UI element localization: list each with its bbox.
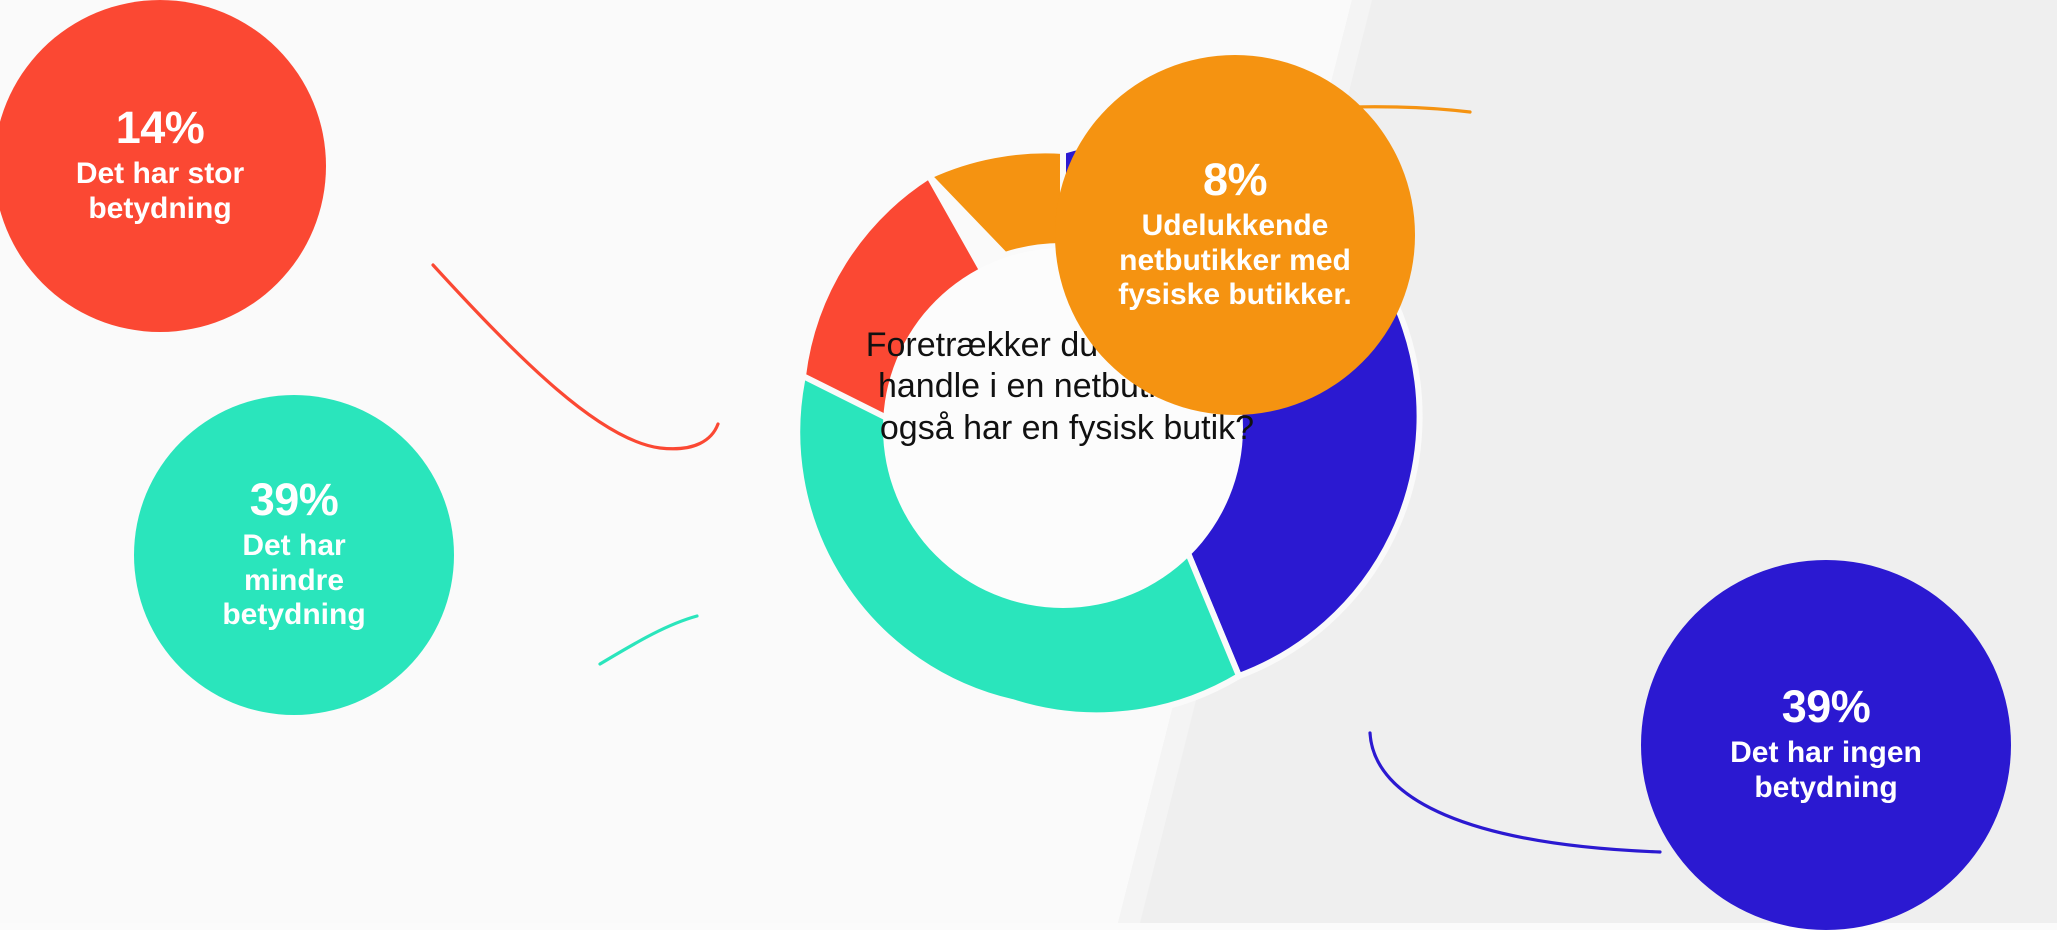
callout-label: Det har stor betydning — [20, 157, 300, 227]
callout-label: Det har ingen betydning — [1676, 736, 1976, 806]
callout-bubble-udelukkende-netbutikker[interactable]: 8% Udelukkende netbutikker med fysiske b… — [1055, 55, 1415, 415]
callout-label: Udelukkende netbutikker med fysiske buti… — [1085, 209, 1385, 313]
callout-percent: 8% — [1203, 157, 1267, 202]
callout-bubble-stor-betydning[interactable]: 14% Det har stor betydning — [0, 0, 326, 332]
callout-bubble-mindre-betydning[interactable]: 39% Det har mindre betydning — [134, 395, 454, 715]
callout-label: Det har mindre betydning — [194, 529, 394, 633]
callout-percent: 14% — [116, 105, 205, 150]
callout-percent: 39% — [1782, 684, 1871, 729]
infographic-canvas: Foretrækker du generelt at handle i en n… — [0, 0, 2057, 923]
callout-bubble-ingen-betydning[interactable]: 39% Det har ingen betydning — [1641, 560, 2011, 930]
callout-percent: 39% — [250, 477, 339, 522]
